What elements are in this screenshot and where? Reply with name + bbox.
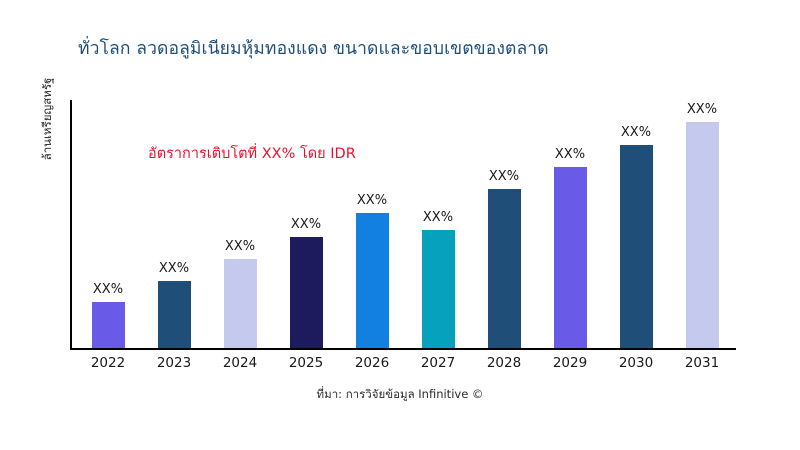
- bar-series: XX%XX%XX%XX%XX%XX%XX%XX%XX%XX%: [70, 100, 785, 348]
- bar-2027[interactable]: [422, 230, 455, 348]
- bar-2022[interactable]: [92, 302, 125, 348]
- bar-2024[interactable]: [224, 259, 257, 348]
- bar-group-2028[interactable]: XX%: [471, 100, 537, 348]
- chart-container: ทั่วโลก ลวดอลูมิเนียมหุ้มทองแดง ขนาดและข…: [0, 0, 800, 450]
- bar-value-label-2031: XX%: [669, 102, 735, 117]
- x-tick-2027: 2027: [405, 355, 471, 371]
- x-tick-2025: 2025: [273, 355, 339, 371]
- x-tick-2023: 2023: [141, 355, 207, 371]
- x-tick-2024: 2024: [207, 355, 273, 371]
- bar-value-label-2024: XX%: [207, 239, 273, 254]
- x-tick-2026: 2026: [339, 355, 405, 371]
- bar-value-label-2022: XX%: [75, 282, 141, 297]
- bar-2030[interactable]: [620, 145, 653, 348]
- x-tick-2031: 2031: [669, 355, 735, 371]
- x-tick-2030: 2030: [603, 355, 669, 371]
- bar-group-2025[interactable]: XX%: [273, 100, 339, 348]
- bar-value-label-2030: XX%: [603, 125, 669, 140]
- bar-group-2024[interactable]: XX%: [207, 100, 273, 348]
- bar-group-2030[interactable]: XX%: [603, 100, 669, 348]
- bar-value-label-2029: XX%: [537, 147, 603, 162]
- bar-value-label-2027: XX%: [405, 210, 471, 225]
- bar-value-label-2026: XX%: [339, 193, 405, 208]
- bar-2026[interactable]: [356, 213, 389, 348]
- bar-group-2031[interactable]: XX%: [669, 100, 735, 348]
- source-note: ที่มา: การวิจัยข้อมูล Infinitive ©: [0, 386, 800, 404]
- bar-2028[interactable]: [488, 189, 521, 348]
- bar-2029[interactable]: [554, 167, 587, 348]
- x-axis-line: [70, 348, 736, 350]
- bar-group-2023[interactable]: XX%: [141, 100, 207, 348]
- bar-group-2026[interactable]: XX%: [339, 100, 405, 348]
- x-tick-2029: 2029: [537, 355, 603, 371]
- bar-2023[interactable]: [158, 281, 191, 348]
- y-axis-label: ล้านเหรียญสหรัฐ: [39, 49, 57, 189]
- plot-area: XX%XX%XX%XX%XX%XX%XX%XX%XX%XX%: [70, 100, 785, 348]
- bar-2031[interactable]: [686, 122, 719, 348]
- bar-group-2029[interactable]: XX%: [537, 100, 603, 348]
- growth-rate-annotation: อัตราการเติบโตที่ XX% โดย IDR: [148, 142, 356, 165]
- x-tick-2022: 2022: [75, 355, 141, 371]
- bar-2025[interactable]: [290, 237, 323, 348]
- bar-value-label-2023: XX%: [141, 261, 207, 276]
- bar-group-2027[interactable]: XX%: [405, 100, 471, 348]
- bar-group-2022[interactable]: XX%: [75, 100, 141, 348]
- bar-value-label-2025: XX%: [273, 217, 339, 232]
- bar-value-label-2028: XX%: [471, 169, 537, 184]
- x-tick-2028: 2028: [471, 355, 537, 371]
- page-title: ทั่วโลก ลวดอลูมิเนียมหุ้มทองแดง ขนาดและข…: [78, 38, 778, 61]
- x-axis-tick-labels: 2022202320242025202620272028202920302031: [70, 355, 785, 377]
